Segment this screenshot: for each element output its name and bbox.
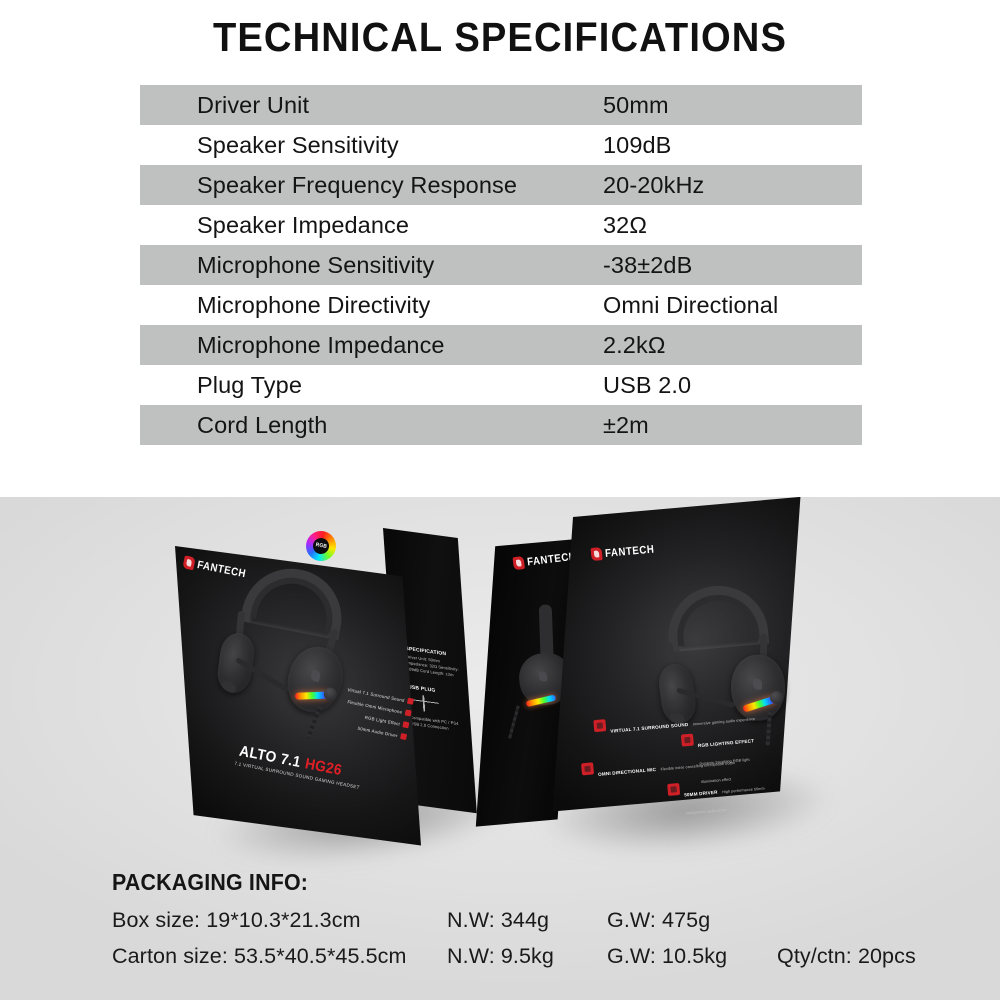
rgb-badge-label: RGB xyxy=(315,542,327,550)
feature-icon xyxy=(405,709,412,716)
spec-label: Microphone Impedance xyxy=(140,332,603,359)
product-box-front: SPECIFICATION Driver Unit: 50mm Impedanc… xyxy=(165,522,465,832)
table-row: Speaker Impedance 32Ω xyxy=(140,205,862,245)
box-size-value: Box size: 19*10.3*21.3cm xyxy=(112,908,447,933)
spec-label: Cord Length xyxy=(140,412,603,439)
box-gross-weight: G.W: 475g xyxy=(607,908,777,933)
carton-size-value: Carton size: 53.5*40.5*45.5cm xyxy=(112,944,447,969)
table-row: Microphone Sensitivity -38±2dB xyxy=(140,245,862,285)
front-box-side-info: SPECIFICATION Driver Unit: 50mm Impedanc… xyxy=(405,646,466,734)
page-title: TECHNICAL SPECIFICATIONS xyxy=(35,14,965,61)
spec-label: Microphone Directivity xyxy=(140,292,603,319)
carton-gross-weight: G.W: 10.5kg xyxy=(607,944,777,969)
spec-label: Microphone Sensitivity xyxy=(140,252,603,279)
headset-cable xyxy=(766,712,772,746)
feature-text: RGB Light Effect xyxy=(364,714,400,726)
carton-qty: Qty/ctn: 20pcs xyxy=(777,944,916,969)
spec-value: 50mm xyxy=(603,92,669,119)
table-row: Speaker Frequency Response 20-20kHz xyxy=(140,165,862,205)
usb-plug-icon xyxy=(409,694,440,714)
packaging-section: SPECIFICATION Driver Unit: 50mm Impedanc… xyxy=(0,497,1000,1000)
spec-label: Speaker Impedance xyxy=(140,212,603,239)
earcup-logo-icon xyxy=(310,669,322,682)
spec-value: ±2m xyxy=(603,412,649,439)
feature-icon xyxy=(400,733,407,740)
earcup-logo-icon xyxy=(753,679,762,690)
rgb-ring-inner: RGB xyxy=(312,537,331,556)
feature-icon xyxy=(667,783,680,796)
spec-value: 20-20kHz xyxy=(603,172,704,199)
packaging-info-heading: PACKAGING INFO: xyxy=(112,869,860,896)
spec-label: Speaker Frequency Response xyxy=(140,172,603,199)
table-row: Microphone Impedance 2.2kΩ xyxy=(140,325,862,365)
feature-icon xyxy=(407,698,414,705)
spec-value: 32Ω xyxy=(603,212,647,239)
technical-specifications-section: TECHNICAL SPECIFICATIONS Driver Unit 50m… xyxy=(0,0,1000,497)
table-row: Speaker Sensitivity 109dB xyxy=(140,125,862,165)
packaging-info-block: PACKAGING INFO: Box size: 19*10.3*21.3cm… xyxy=(112,869,916,980)
packaging-row-carton: Carton size: 53.5*40.5*45.5cm N.W: 9.5kg… xyxy=(112,944,916,969)
spec-value: 2.2kΩ xyxy=(603,332,666,359)
spec-value: Omni Directional xyxy=(603,292,778,319)
rgb-ring-icon: RGB xyxy=(303,528,338,563)
spec-value: -38±2dB xyxy=(603,252,692,279)
feature-text: 50mm Audio Driver xyxy=(357,725,398,738)
feature-desc: Flexible noise cancelling microphone boo… xyxy=(660,761,735,771)
table-row: Plug Type USB 2.0 xyxy=(140,365,862,405)
feature-icon xyxy=(681,734,694,747)
feature-icon xyxy=(402,721,409,728)
product-box-back: FANTECH FANTECH xyxy=(495,517,815,837)
feature-icon xyxy=(593,719,606,732)
fantech-badge-icon xyxy=(182,555,195,570)
spec-label: Plug Type xyxy=(140,372,603,399)
feature-heading: RGB LIGHTING EFFECT xyxy=(698,738,755,748)
carton-net-weight: N.W: 9.5kg xyxy=(447,944,607,969)
feature-heading: OMNI DIRECTIONAL MIC xyxy=(598,767,656,777)
feature-icon xyxy=(581,762,594,775)
spec-value: 109dB xyxy=(603,132,671,159)
table-row: Cord Length ±2m xyxy=(140,405,862,445)
feature-heading: VIRTUAL 7.1 SURROUND SOUND xyxy=(610,722,689,734)
fantech-badge-icon xyxy=(512,556,525,570)
feature-desc: Immersive gaming audio experience xyxy=(693,717,756,726)
headset-earcup-right xyxy=(281,641,350,719)
table-row: Driver Unit 50mm xyxy=(140,85,862,125)
earcup-logo-icon xyxy=(538,671,547,682)
fantech-badge-icon xyxy=(591,547,603,561)
packaging-row-box: Box size: 19*10.3*21.3cm N.W: 344g G.W: … xyxy=(112,908,916,933)
spec-value: USB 2.0 xyxy=(603,372,691,399)
spec-label: Speaker Sensitivity xyxy=(140,132,603,159)
table-row: Microphone Directivity Omni Directional xyxy=(140,285,862,325)
list-item: 50MM DRIVER High performance 50mm neodym… xyxy=(667,776,767,821)
box-net-weight: N.W: 344g xyxy=(447,908,607,933)
spec-table: Driver Unit 50mm Speaker Sensitivity 109… xyxy=(140,85,862,445)
feature-heading: 50MM DRIVER xyxy=(684,790,718,798)
spec-label: Driver Unit xyxy=(140,92,603,119)
